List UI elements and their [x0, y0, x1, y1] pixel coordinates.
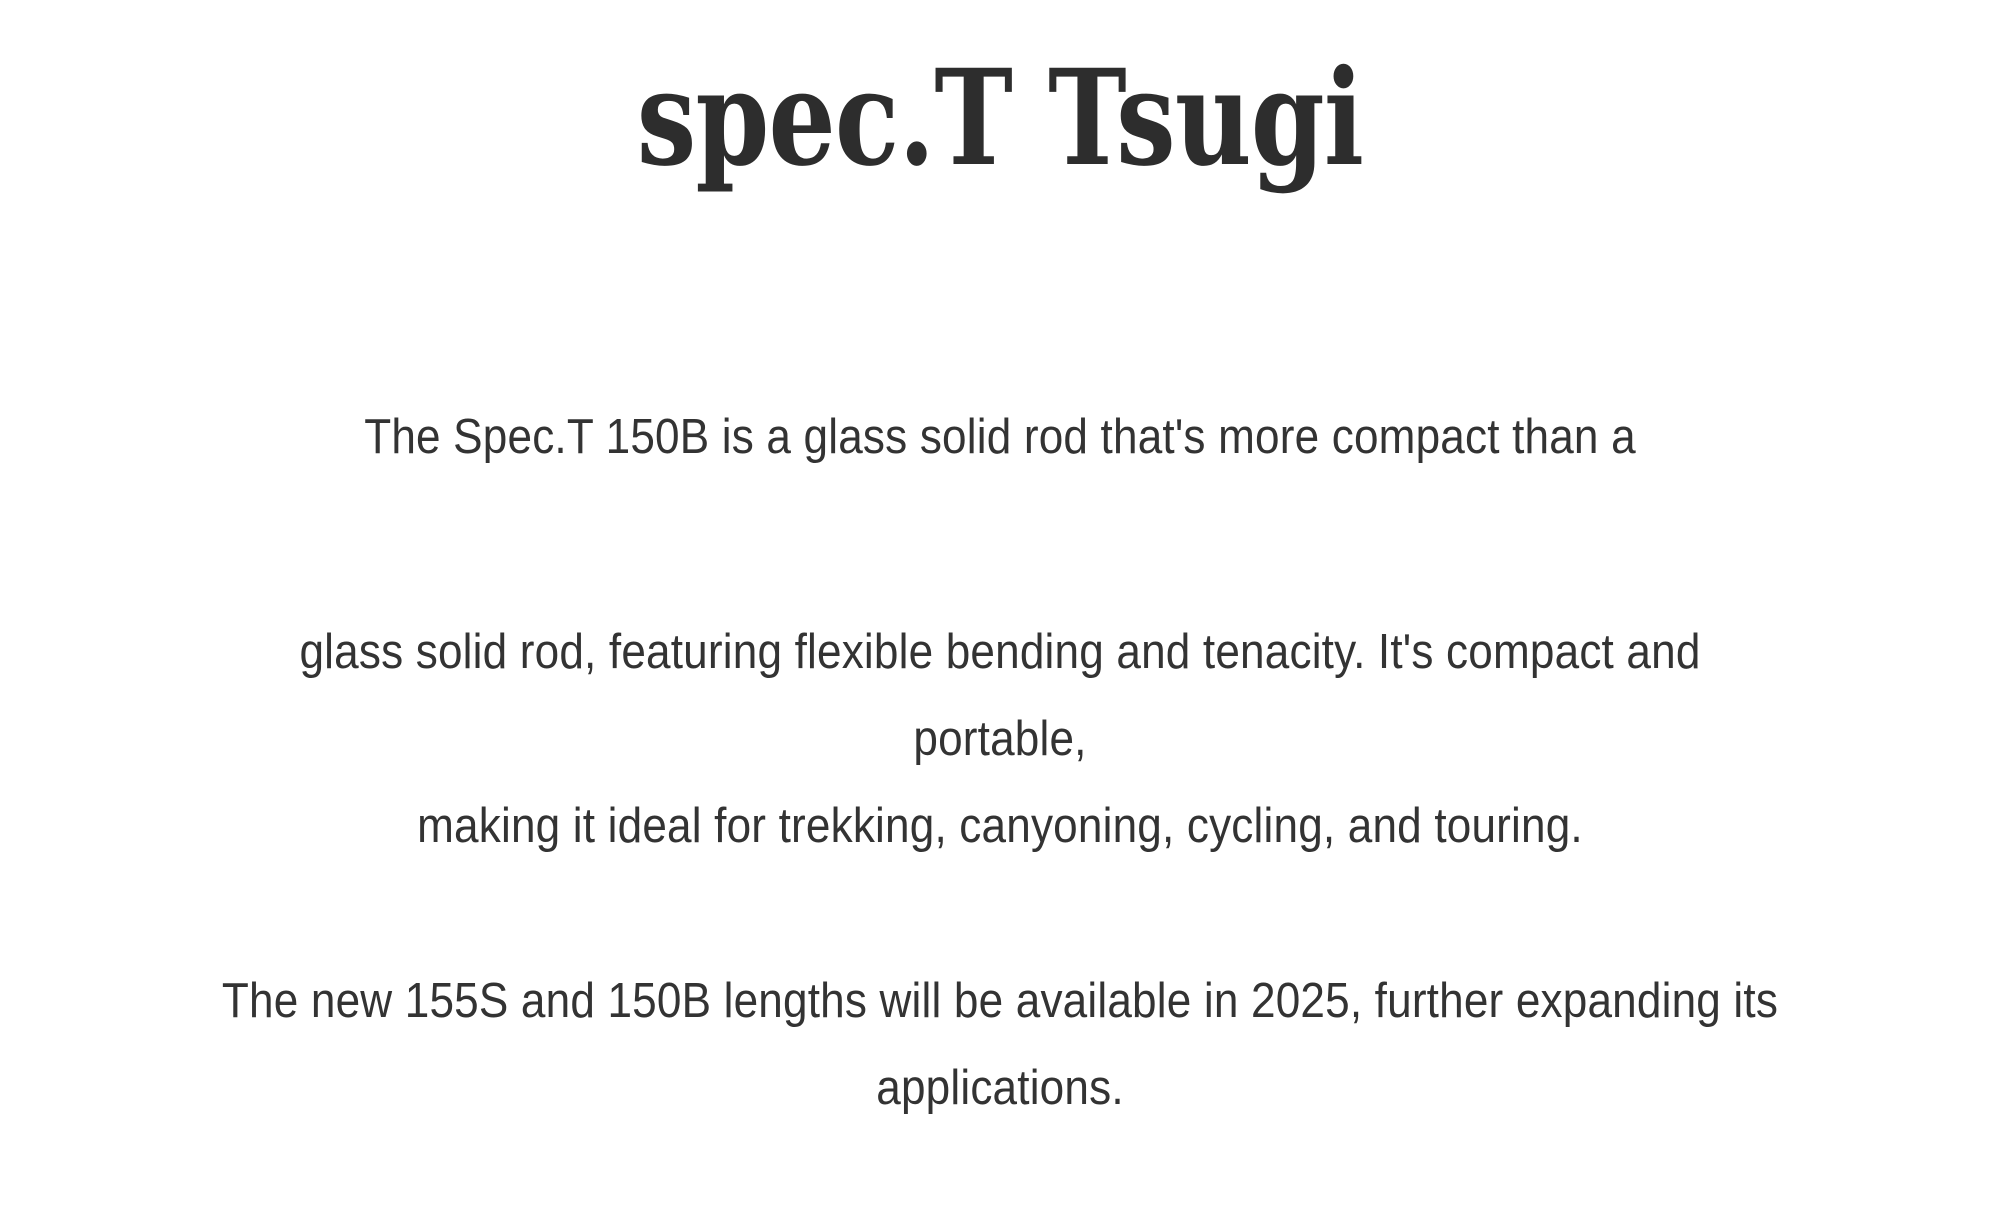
title-block: spec.T Tsugi: [0, 0, 2000, 194]
paragraph-availability: The new 155S and 150B lengths will be av…: [0, 958, 2000, 1132]
content-container: spec.T Tsugi The Spec.T 150B is a glass …: [0, 0, 2000, 1132]
paragraph-line: applications.: [100, 1045, 1900, 1132]
paragraph-features: glass solid rod, featuring flexible bend…: [0, 609, 2000, 870]
title-body-spacer: [0, 194, 2000, 394]
paragraph-line: portable,: [100, 696, 1900, 783]
paragraph-spacer-1: [0, 481, 2000, 609]
body-copy: The Spec.T 150B is a glass solid rod tha…: [0, 394, 2000, 1132]
paragraph-line: The Spec.T 150B is a glass solid rod tha…: [100, 394, 1900, 481]
paragraph-line: The new 155S and 150B lengths will be av…: [100, 958, 1900, 1045]
paragraph-line: glass solid rod, featuring flexible bend…: [100, 609, 1900, 696]
paragraph-intro: The Spec.T 150B is a glass solid rod tha…: [0, 394, 2000, 481]
paragraph-spacer-2: [0, 870, 2000, 958]
page-title: spec.T Tsugi: [200, 44, 1800, 194]
product-description-page: spec.T Tsugi The Spec.T 150B is a glass …: [0, 0, 2000, 1214]
paragraph-line: making it ideal for trekking, canyoning,…: [100, 783, 1900, 870]
